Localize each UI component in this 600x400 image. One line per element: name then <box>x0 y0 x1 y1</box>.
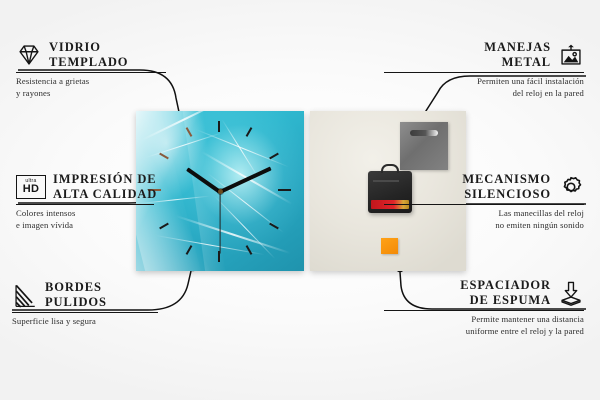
feature-divider <box>12 312 158 314</box>
feature-header: VIDRIO TEMPLADO <box>16 40 216 70</box>
clock-center-cap <box>218 189 223 194</box>
feature-header: BORDES PULIDOS <box>12 280 212 310</box>
feature-divider <box>16 204 154 206</box>
feature-divider <box>384 310 584 312</box>
infographic-page: VIDRIO TEMPLADO Resistencia a grietas y … <box>0 0 600 400</box>
feature-title: VIDRIO TEMPLADO <box>49 40 128 70</box>
clock-tick <box>278 189 291 191</box>
feature-title: IMPRESIÓN DE ALTA CALIDAD <box>53 172 157 202</box>
ultra-hd-icon-large-text: HD <box>23 184 40 195</box>
feature-title: ESPACIADOR DE ESPUMA <box>460 278 551 308</box>
clock-tick <box>246 127 253 137</box>
picture-frame-icon <box>558 42 584 68</box>
feature-bordes-pulidos: BORDES PULIDOS Superficie lisa y segura <box>12 280 212 328</box>
feature-title: BORDES PULIDOS <box>45 280 107 310</box>
feature-divider <box>384 204 584 206</box>
feature-manejas-metal: MANEJAS METAL Permiten una fácil instala… <box>384 40 584 99</box>
feather-streak <box>214 195 276 259</box>
feature-header: ultra HD IMPRESIÓN DE ALTA CALIDAD <box>16 172 216 202</box>
feature-subtitle: Colores intensos e imagen vívida <box>16 208 216 231</box>
feature-vidrio-templado: VIDRIO TEMPLADO Resistencia a grietas y … <box>16 40 216 99</box>
feature-header: MANEJAS METAL <box>384 40 584 70</box>
feature-subtitle: Permite mantener una distancia uniforme … <box>384 314 584 337</box>
hanger-plate <box>400 122 448 170</box>
feature-divider <box>16 72 166 74</box>
diamond-icon <box>16 42 42 68</box>
polished-edges-icon <box>12 282 38 308</box>
ultra-hd-icon: ultra HD <box>16 175 46 199</box>
feature-title: MANEJAS METAL <box>484 40 551 70</box>
feature-subtitle: Superficie lisa y segura <box>12 316 212 328</box>
feature-divider <box>384 72 584 74</box>
feature-subtitle: Resistencia a grietas y rayones <box>16 76 216 99</box>
clock-minute-hand <box>219 167 271 194</box>
feature-mecanismo-silencioso: MECANISMO SILENCIOSO Las manecillas del … <box>384 172 584 231</box>
gear-icon <box>558 174 584 200</box>
feature-title: MECANISMO SILENCIOSO <box>462 172 551 202</box>
feature-header: MECANISMO SILENCIOSO <box>384 172 584 202</box>
clock-tick <box>218 121 220 132</box>
clock-second-hand <box>219 192 220 254</box>
feature-subtitle: Las manecillas del reloj no emiten ningú… <box>384 208 584 231</box>
foam-spacer-part <box>381 238 398 254</box>
clock-tick <box>269 153 279 160</box>
feature-header: ESPACIADOR DE ESPUMA <box>384 278 584 308</box>
feature-impresion-alta-calidad: ultra HD IMPRESIÓN DE ALTA CALIDAD Color… <box>16 172 216 231</box>
feature-subtitle: Permiten una fácil instalación del reloj… <box>384 76 584 99</box>
hanger-slot <box>410 130 438 136</box>
feature-espaciador-espuma: ESPACIADOR DE ESPUMA Permite mantener un… <box>384 278 584 337</box>
feather-streak <box>222 119 260 179</box>
foam-spacer-icon <box>558 280 584 306</box>
